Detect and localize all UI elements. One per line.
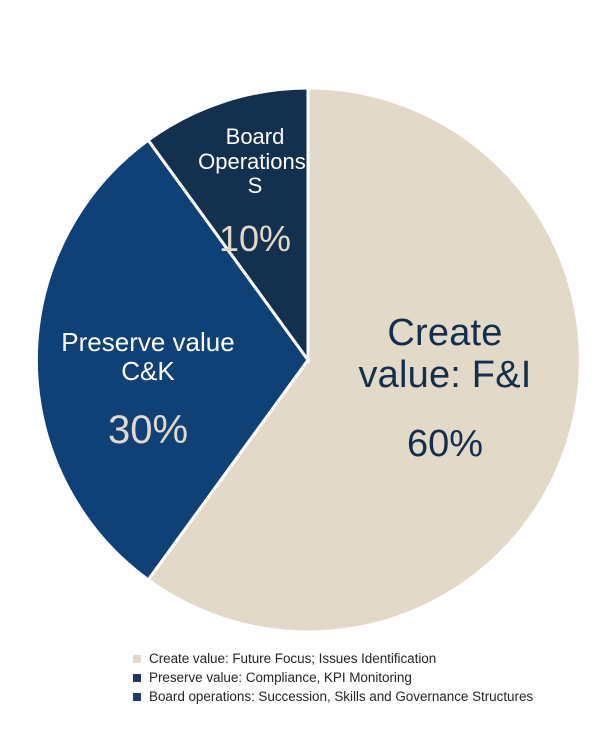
legend-label-create-value: Create value: Future Focus; Issues Ident… bbox=[149, 651, 436, 666]
chart-legend: Create value: Future Focus; Issues Ident… bbox=[0, 649, 616, 706]
pie-chart-page: Create value: F&I 60% Preserve value C&K… bbox=[0, 0, 616, 739]
legend-swatch-create-value bbox=[133, 655, 141, 663]
legend-swatch-preserve-value bbox=[133, 674, 141, 682]
legend-label-preserve-value: Preserve value: Compliance, KPI Monitori… bbox=[149, 670, 412, 685]
legend-item-create-value[interactable]: Create value: Future Focus; Issues Ident… bbox=[0, 649, 616, 668]
legend-item-board-operations[interactable]: Board operations: Succession, Skills and… bbox=[0, 687, 616, 706]
legend-swatch-board-operations bbox=[133, 693, 141, 701]
pie-chart-svg bbox=[0, 0, 616, 645]
legend-item-preserve-value[interactable]: Preserve value: Compliance, KPI Monitori… bbox=[0, 668, 616, 687]
pie-chart-figure: Create value: F&I 60% Preserve value C&K… bbox=[0, 0, 616, 645]
legend-label-board-operations: Board operations: Succession, Skills and… bbox=[149, 689, 533, 704]
